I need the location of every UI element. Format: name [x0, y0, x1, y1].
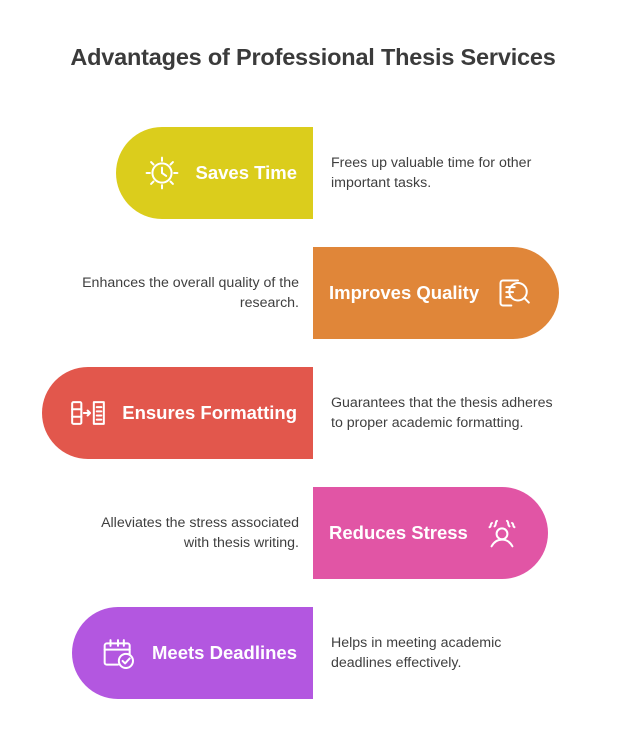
benefit-row-ensures-formatting: Ensures Formatting Guarantees that the t… — [0, 367, 626, 459]
clock-icon — [142, 153, 182, 193]
benefit-description: Helps in meeting academic deadlines effe… — [331, 633, 556, 673]
calendar-check-icon — [98, 633, 138, 673]
document-format-arrow-icon — [68, 393, 108, 433]
page-title: Advantages of Professional Thesis Servic… — [0, 44, 626, 71]
benefit-row-improves-quality: Improves Quality Enhances the overall qu… — [0, 247, 626, 339]
infographic-canvas: Advantages of Professional Thesis Servic… — [0, 0, 626, 750]
benefit-label: Ensures Formatting — [122, 402, 297, 424]
document-magnifier-icon — [493, 273, 533, 313]
benefit-description: Guarantees that the thesis adheres to pr… — [331, 393, 556, 433]
benefit-row-meets-deadlines: Meets Deadlines Helps in meeting academi… — [0, 607, 626, 699]
benefit-pill-ensures-formatting[interactable]: Ensures Formatting — [42, 367, 313, 459]
benefit-description: Enhances the overall quality of the rese… — [74, 273, 299, 313]
benefit-row-saves-time: Saves Time Frees up valuable time for ot… — [0, 127, 626, 219]
benefit-pill-meets-deadlines[interactable]: Meets Deadlines — [72, 607, 313, 699]
benefit-label: Reduces Stress — [329, 522, 468, 544]
benefit-pill-reduces-stress[interactable]: Reduces Stress — [313, 487, 548, 579]
benefit-row-reduces-stress: Reduces Stress Alleviates the stress ass… — [0, 487, 626, 579]
benefit-label: Improves Quality — [329, 282, 479, 304]
benefit-description: Frees up valuable time for other importa… — [331, 153, 556, 193]
benefit-pill-improves-quality[interactable]: Improves Quality — [313, 247, 559, 339]
stressed-person-icon — [482, 513, 522, 553]
benefit-label: Saves Time — [196, 162, 297, 184]
benefit-label: Meets Deadlines — [152, 642, 297, 664]
benefit-pill-saves-time[interactable]: Saves Time — [116, 127, 313, 219]
benefit-description: Alleviates the stress associated with th… — [74, 513, 299, 553]
